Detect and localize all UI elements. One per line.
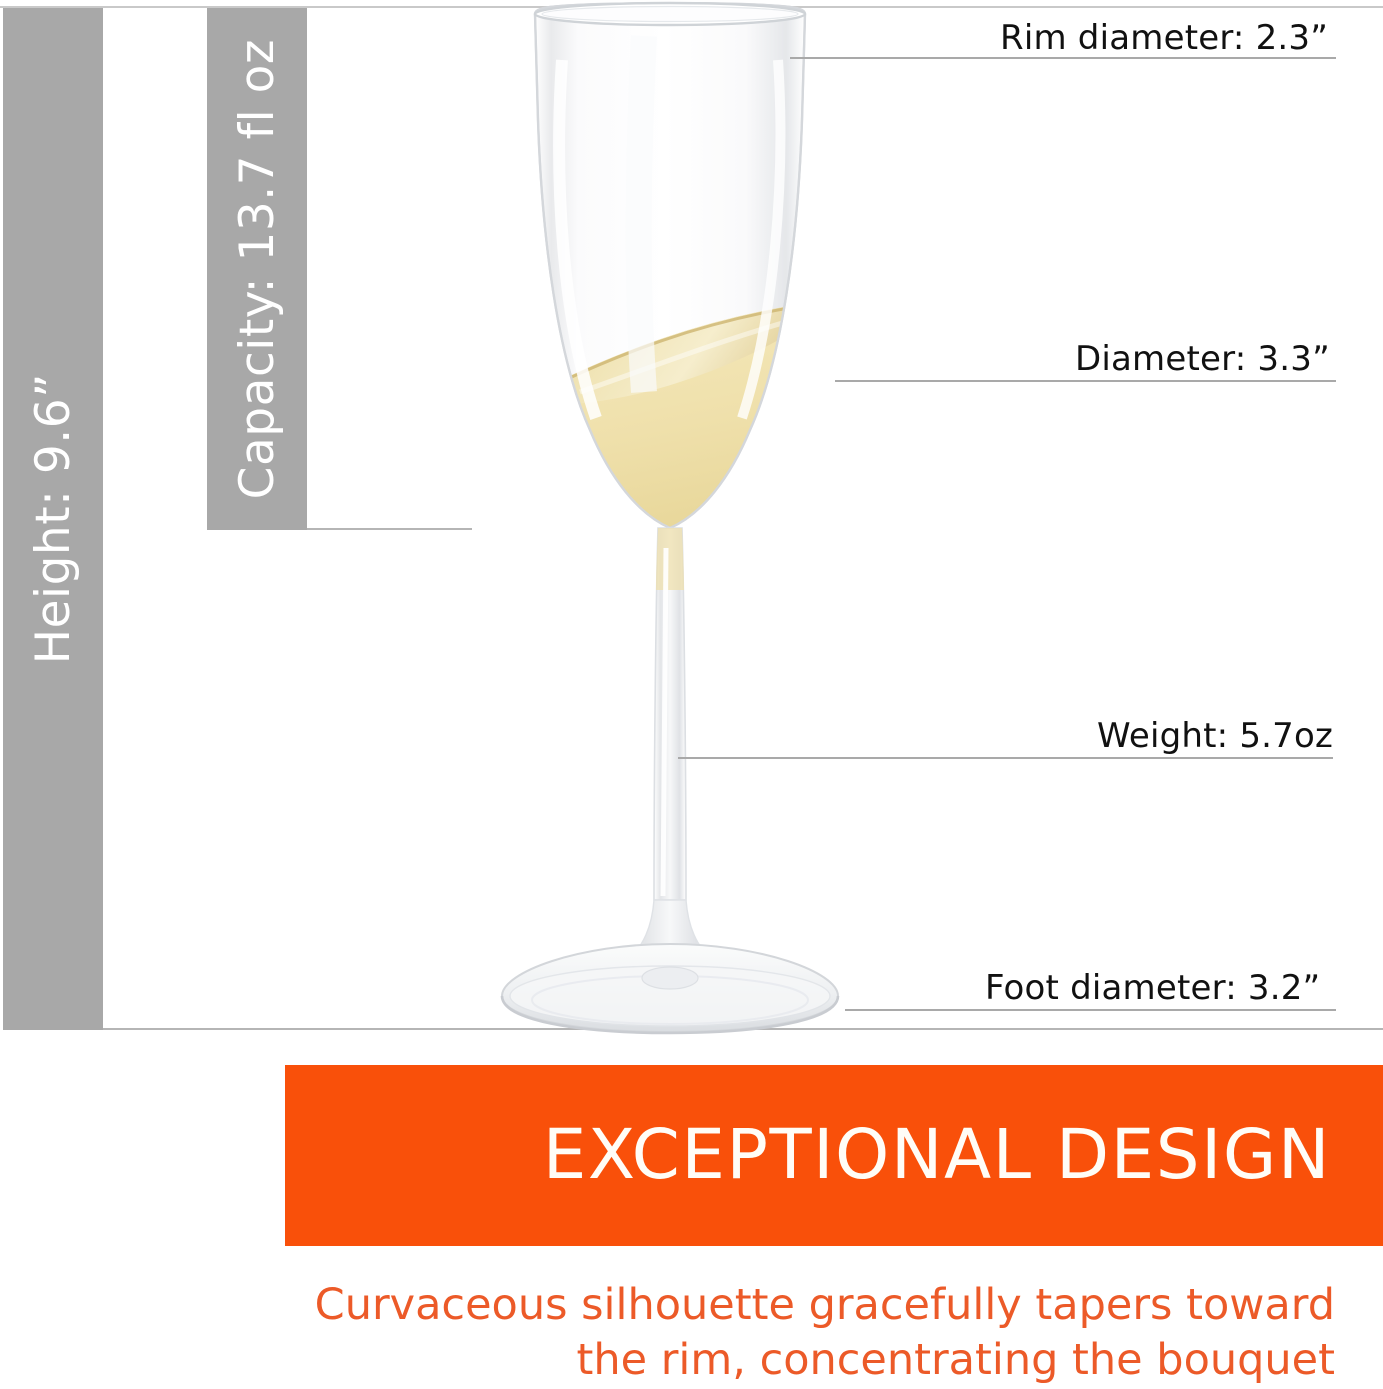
callout-diameter: Diameter: 3.3” xyxy=(1075,339,1330,379)
tagline: Curvaceous silhouette gracefully tapers … xyxy=(120,1278,1335,1388)
banner-headline: EXCEPTIONAL DESIGN xyxy=(543,1121,1383,1190)
callout-foot-diameter: Foot diameter: 3.2” xyxy=(985,968,1320,1008)
capacity-measure-bar: Capacity: 13.7 fl oz xyxy=(207,8,307,530)
exceptional-design-banner: EXCEPTIONAL DESIGN xyxy=(285,1065,1383,1246)
callout-weight: Weight: 5.7oz xyxy=(1097,716,1333,756)
glass-rim-inner xyxy=(542,7,798,22)
tagline-line-1: Curvaceous silhouette gracefully tapers … xyxy=(120,1278,1335,1333)
stem-highlight xyxy=(663,548,666,896)
height-measure-bar: Height: 9.6” xyxy=(3,8,103,1030)
leader-line-weight xyxy=(678,757,1333,759)
capacity-measure-label: Capacity: 13.7 fl oz xyxy=(234,39,281,499)
product-infographic: Height: 9.6” Capacity: 13.7 fl oz xyxy=(0,0,1383,1389)
bowl-highlight-center xyxy=(639,36,644,392)
tagline-line-2: the rim, concentrating the bouquet xyxy=(120,1333,1335,1388)
callout-rim-diameter: Rim diameter: 2.3” xyxy=(1000,18,1328,58)
leader-line-diameter xyxy=(835,380,1336,382)
height-measure-label: Height: 9.6” xyxy=(30,373,77,664)
glass-foot-punt xyxy=(642,967,698,989)
stem-wine-tint xyxy=(656,528,684,590)
wine-glass-image xyxy=(430,0,910,1040)
leader-line-foot-diameter xyxy=(845,1009,1336,1011)
wine-glass-illustration xyxy=(430,0,910,1040)
